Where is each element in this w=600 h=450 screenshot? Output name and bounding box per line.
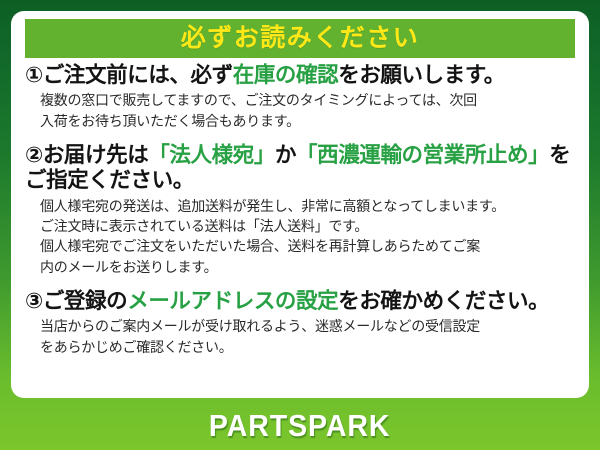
notice-heading: ③ご登録のメールアドレスの設定をお確かめください。 — [25, 289, 581, 314]
footer-brand: PARTSPARK — [0, 400, 600, 450]
notice-heading-highlight: 「西濃運輸の営業所止め」 — [296, 143, 549, 167]
notice-heading-text: をお確かめください。 — [338, 289, 549, 313]
notice-body-line: 内のメールをお送りします。 — [40, 257, 581, 277]
notice-heading-highlight: メールアドレスの設定 — [127, 289, 338, 313]
notice-body-line: 入荷をお待ち頂いただく場合もあります。 — [40, 111, 581, 131]
notice-heading-text: ご登録の — [43, 289, 127, 313]
notice-body: 複数の窓口で販売してますので、ご注文のタイミングによっては、次回入荷をお待ち頂い… — [25, 90, 581, 131]
notice-body: 当店からのご案内メールが受け取れるよう、迷惑メールなどの受信設定をあらかじめご確… — [25, 316, 581, 357]
brand-logo-text: PARTSPARK — [209, 410, 391, 441]
notice-banner: 必ずお読みください ①ご注文前には、必ず在庫の確認をお願いします。複数の窓口で販… — [0, 0, 600, 450]
notice-heading-text: お届け先は — [43, 143, 149, 167]
notice-number-icon: ① — [25, 63, 43, 87]
notice-number-icon: ② — [25, 143, 43, 167]
notice-heading-text: か — [275, 143, 296, 167]
notice-heading-highlight: 在庫の確認 — [233, 63, 339, 87]
notice-body-line: ご注文時に表示されている送料は「法人送料」です。 — [40, 216, 581, 236]
content-card: 必ずお読みください ①ご注文前には、必ず在庫の確認をお願いします。複数の窓口で販… — [11, 11, 589, 398]
notice-body: 個人様宅宛の発送は、追加送料が発生し、非常に高額となってしまいます。ご注文時に表… — [25, 196, 581, 277]
notice-item: ②お届け先は「法人様宛」か「西濃運輸の営業所止め」をご指定ください。個人様宅宛の… — [11, 143, 589, 277]
notice-item: ③ご登録のメールアドレスの設定をお確かめください。当店からのご案内メールが受け取… — [11, 289, 589, 357]
notice-heading: ①ご注文前には、必ず在庫の確認をお願いします。 — [25, 63, 581, 88]
notice-body-line: 当店からのご案内メールが受け取れるよう、迷惑メールなどの受信設定 — [40, 316, 581, 336]
notice-body-line: をあらかじめご確認ください。 — [40, 337, 581, 357]
title-band: 必ずお読みください — [25, 19, 575, 58]
page-title: 必ずお読みください — [181, 26, 420, 51]
notice-item: ①ご注文前には、必ず在庫の確認をお願いします。複数の窓口で販売してますので、ご注… — [11, 63, 589, 131]
notice-body-line: 複数の窓口で販売してますので、ご注文のタイミングによっては、次回 — [40, 90, 581, 110]
notice-heading: ②お届け先は「法人様宛」か「西濃運輸の営業所止め」をご指定ください。 — [25, 143, 581, 194]
notice-body-line: 個人様宅宛の発送は、追加送料が発生し、非常に高額となってしまいます。 — [40, 196, 581, 216]
notice-heading-text: ご注文前には、必ず — [43, 63, 233, 87]
notice-list: ①ご注文前には、必ず在庫の確認をお願いします。複数の窓口で販売してますので、ご注… — [11, 63, 589, 357]
notice-body-line: 個人様宅宛でご注文をいただいた場合、送料を再計算しあらためてご案 — [40, 236, 581, 256]
notice-number-icon: ③ — [25, 289, 43, 313]
notice-heading-highlight: 「法人様宛」 — [148, 143, 275, 167]
notice-heading-text: をお願いします。 — [338, 63, 505, 87]
